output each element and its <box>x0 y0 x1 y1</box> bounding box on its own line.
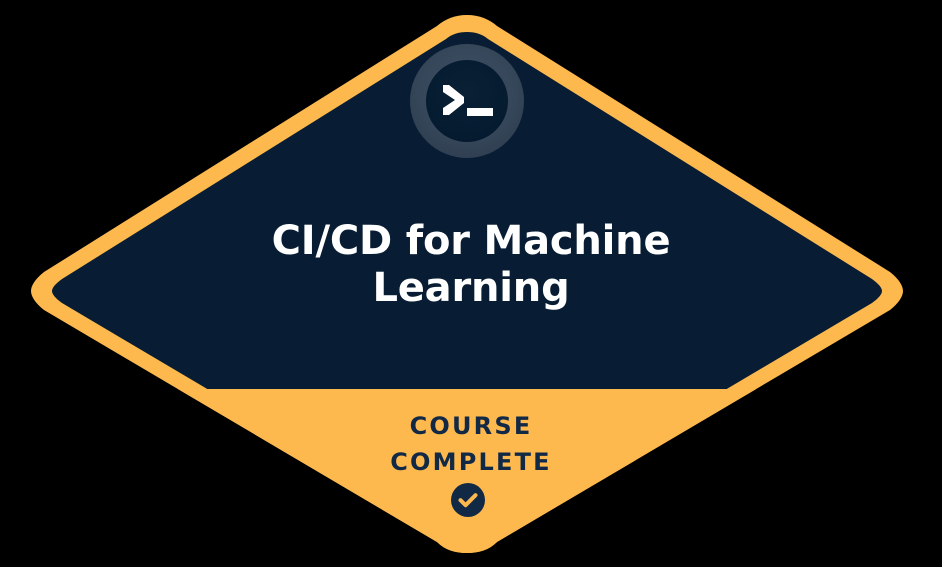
badge-canvas: CI/CD for Machine Learning COURSE COMPLE… <box>0 0 942 567</box>
status-badge: COURSE COMPLETE <box>0 408 942 480</box>
check-circle-icon <box>450 482 486 518</box>
page-title: CI/CD for Machine Learning <box>0 218 942 312</box>
title-line-2: Learning <box>0 265 942 312</box>
status-line-1: COURSE <box>0 408 942 444</box>
status-line-2: COMPLETE <box>0 444 942 480</box>
title-line-1: CI/CD for Machine <box>0 218 942 265</box>
terminal-prompt-icon <box>437 77 497 125</box>
